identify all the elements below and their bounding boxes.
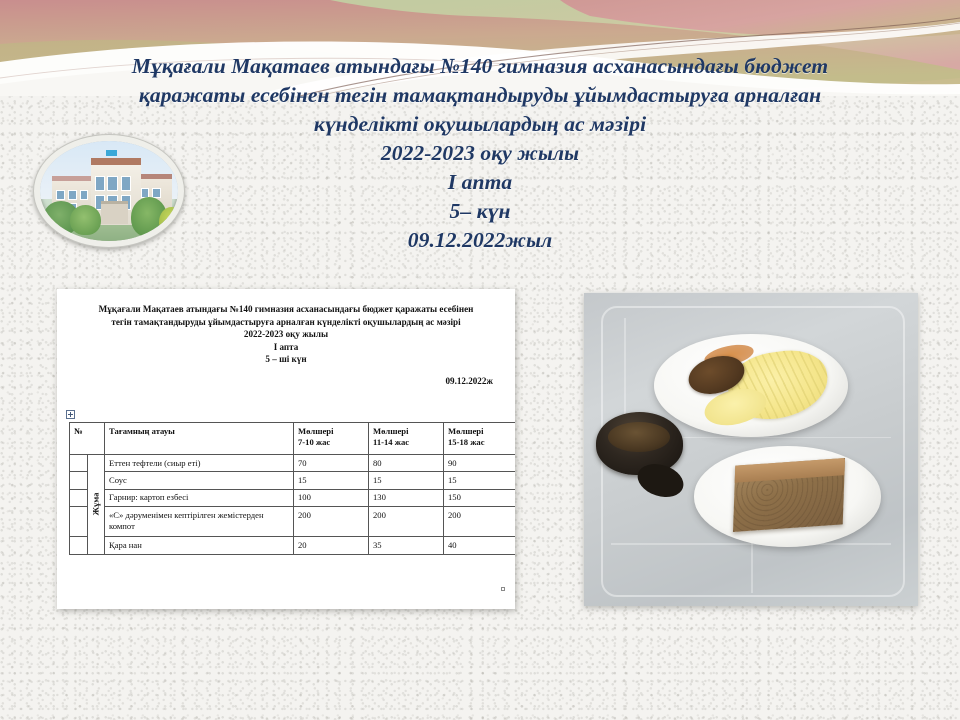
table-row: «С» дәруменімен кептірілген жемістерден … [70, 507, 516, 537]
title-date: 09.12.2022жыл [0, 226, 960, 255]
menu-table-body: Жұма Еттен тефтели (сиыр еті) 70 80 90 С… [70, 455, 516, 555]
header-dish-name: Тағамның атауы [105, 423, 294, 455]
title-line-1: Мұқағали Мақатаев атындағы №140 гимназия… [0, 52, 960, 81]
table-resize-handle-icon[interactable] [501, 587, 505, 591]
header-amount-15-18-l2: 15-18 жас [448, 437, 514, 448]
dish-name-4: «С» дәруменімен кептірілген жемістерден … [105, 507, 294, 537]
amount-15-18-5: 40 [444, 537, 516, 554]
header-amount-11-14-l1: Мөлшері [373, 426, 439, 437]
header-amount-11-14: Мөлшері 11-14 жас [369, 423, 444, 455]
header-amount-11-14-l2: 11-14 жас [373, 437, 439, 448]
doc-header-line-2: тегін тамақтандыруды ұйымдастыруға арнал… [75, 316, 497, 329]
amount-15-18-3: 150 [444, 489, 516, 506]
header-amount-15-18-l1: Мөлшері [448, 426, 514, 437]
compote-liquid [608, 422, 671, 452]
amount-15-18-4: 200 [444, 507, 516, 537]
header-number: № [70, 423, 105, 455]
table-move-handle-icon[interactable] [66, 410, 75, 419]
menu-table-header-row: № Тағамның атауы Мөлшері 7-10 жас Мөлшер… [70, 423, 516, 455]
doc-header-line-3: 2022-2023 оқу жылы [75, 328, 497, 341]
table-row: Гарнир: картоп езбесі 100 130 150 [70, 489, 516, 506]
header-amount-7-10-l2: 7-10 жас [298, 437, 364, 448]
dish-name-1: Еттен тефтели (сиыр еті) [105, 455, 294, 472]
table-row: Соус 15 15 15 [70, 472, 516, 489]
amount-7-10-2: 15 [294, 472, 369, 489]
dish-name-2: Соус [105, 472, 294, 489]
header-amount-7-10-l1: Мөлшері [298, 426, 364, 437]
row-number-4 [70, 507, 88, 537]
amount-11-14-1: 80 [369, 455, 444, 472]
amount-11-14-4: 200 [369, 507, 444, 537]
amount-15-18-1: 90 [444, 455, 516, 472]
amount-11-14-2: 15 [369, 472, 444, 489]
dish-name-3: Гарнир: картоп езбесі [105, 489, 294, 506]
title-day: 5– күн [0, 197, 960, 226]
amount-7-10-4: 200 [294, 507, 369, 537]
meal-photo [584, 293, 918, 606]
title-line-3: күнделікті оқушылардың ас мәзірі [0, 110, 960, 139]
table-row: Жұма Еттен тефтели (сиыр еті) 70 80 90 [70, 455, 516, 472]
row-number-3 [70, 489, 88, 506]
tray-groove [751, 543, 753, 593]
doc-header-line-4: I апта [75, 341, 497, 354]
amount-7-10-3: 100 [294, 489, 369, 506]
compote-cup [596, 412, 683, 475]
row-number-5 [70, 537, 88, 554]
row-number-2 [70, 472, 88, 489]
weekday-cell: Жұма [87, 455, 105, 555]
document-date: 09.12.2022ж [57, 366, 515, 386]
amount-7-10-5: 20 [294, 537, 369, 554]
amount-11-14-3: 130 [369, 489, 444, 506]
menu-table-head: № Тағамның атауы Мөлшері 7-10 жас Мөлшер… [70, 423, 516, 455]
menu-document-page: Мұқағали Мақатаев атындағы №140 гимназия… [57, 289, 515, 609]
weekday-label: Жұма [90, 493, 101, 516]
doc-header-line-5: 5 – ші күн [75, 353, 497, 366]
slide-canvas: Мұқағали Мақатаев атындағы №140 гимназия… [0, 0, 960, 720]
amount-11-14-5: 35 [369, 537, 444, 554]
doc-header-line-1: Мұқағали Мақатаев атындағы №140 гимназия… [75, 303, 497, 316]
header-amount-15-18: Мөлшері 15-18 жас [444, 423, 516, 455]
title-week: I апта [0, 168, 960, 197]
black-bread-slice [733, 458, 845, 532]
menu-table: № Тағамның атауы Мөлшері 7-10 жас Мөлшер… [69, 422, 515, 555]
row-number-1 [70, 455, 88, 472]
dish-name-5: Қара нан [105, 537, 294, 554]
title-academic-year: 2022-2023 оқу жылы [0, 139, 960, 168]
amount-7-10-1: 70 [294, 455, 369, 472]
header-amount-7-10: Мөлшері 7-10 жас [294, 423, 369, 455]
amount-15-18-2: 15 [444, 472, 516, 489]
serving-tray [584, 293, 918, 606]
slide-title: Мұқағали Мақатаев атындағы №140 гимназия… [0, 52, 960, 255]
document-header: Мұқағали Мақатаев атындағы №140 гимназия… [57, 289, 515, 366]
table-row: Қара нан 20 35 40 [70, 537, 516, 554]
title-line-2: қаражаты есебінен тегін тамақтандыруды ұ… [0, 81, 960, 110]
